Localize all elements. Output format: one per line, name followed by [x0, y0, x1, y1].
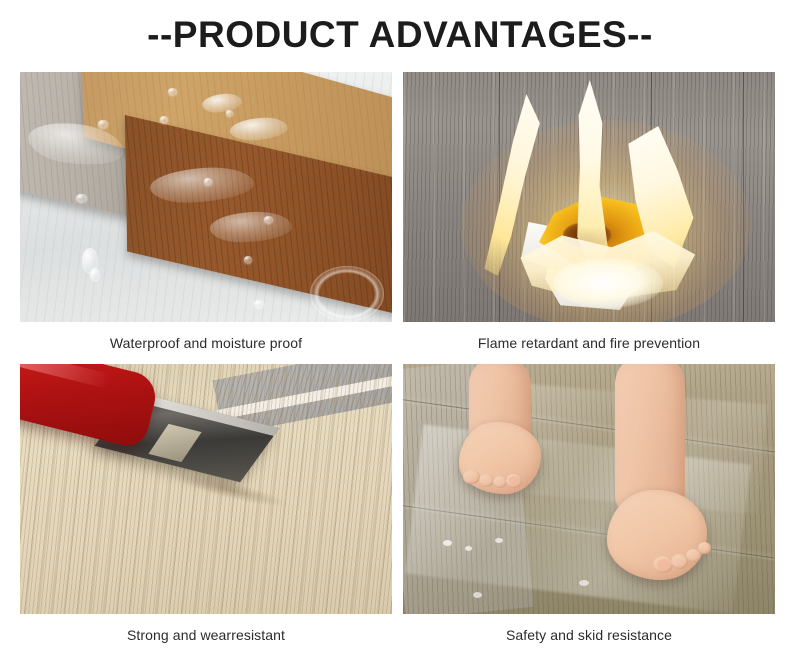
water-droplet [473, 592, 482, 598]
water-bead [264, 216, 273, 223]
water-trail [310, 266, 384, 322]
advantage-caption: Strong and wearresistant [20, 614, 392, 643]
waterproof-photo [20, 72, 392, 322]
wear-resistant-photo [20, 364, 392, 614]
child-toe [463, 470, 480, 484]
water-droplet [90, 268, 100, 282]
advantage-caption: Flame retardant and fire prevention [403, 322, 775, 351]
child-toe [493, 476, 507, 488]
water-bead [168, 88, 177, 95]
water-bead [98, 120, 108, 128]
advantage-caption: Waterproof and moisture proof [20, 322, 392, 351]
water-bead [204, 178, 212, 185]
advantage-card-skid-resistance: Safety and skid resistance [403, 364, 775, 643]
advantage-card-waterproof: Waterproof and moisture proof [20, 72, 392, 351]
water-droplet [465, 546, 472, 551]
child-toe [479, 474, 494, 487]
water-bead [76, 194, 87, 202]
floor-seam [499, 72, 500, 322]
water-droplet [495, 538, 503, 543]
skid-resistance-photo [403, 364, 775, 614]
water-droplet [579, 580, 589, 586]
flame-retardant-photo [403, 72, 775, 322]
page-title: --PRODUCT ADVANTAGES-- [0, 14, 800, 56]
advantages-grid: Waterproof and moisture proof [20, 72, 780, 632]
child-toenail [509, 476, 520, 485]
floor-seam [743, 72, 744, 322]
water-bead [160, 116, 168, 123]
product-advantages-page: --PRODUCT ADVANTAGES-- [0, 0, 800, 653]
water-bead [244, 256, 252, 263]
water-bead [254, 300, 264, 308]
advantage-caption: Safety and skid resistance [403, 614, 775, 643]
advantage-card-wear-resistant: Strong and wearresistant [20, 364, 392, 643]
child-toenail [657, 559, 670, 570]
water-bead [226, 110, 233, 116]
child-toe [698, 542, 711, 554]
water-droplet [443, 540, 452, 546]
advantage-card-flame-retardant: Flame retardant and fire prevention [403, 72, 775, 351]
flame-hotspot [553, 258, 663, 308]
